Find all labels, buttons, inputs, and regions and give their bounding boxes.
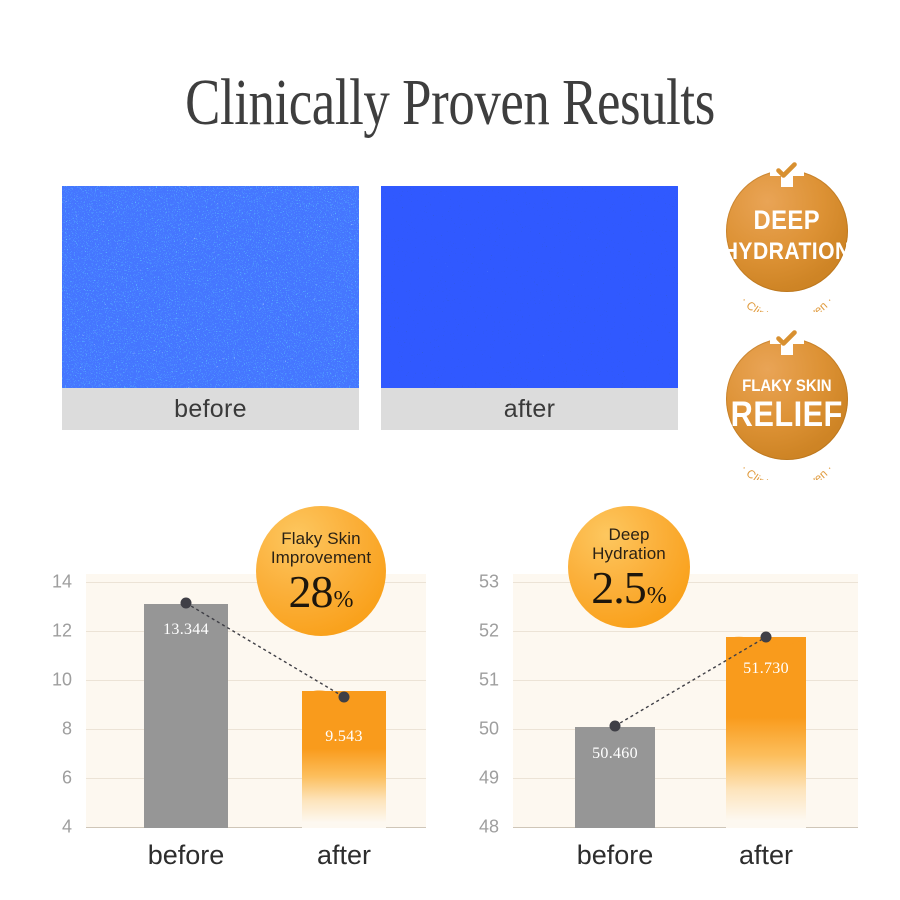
speckle-pattern-before xyxy=(62,186,359,388)
callout-title-line1: Flaky Skin xyxy=(281,529,360,548)
callout-title-line1: Deep xyxy=(608,525,649,544)
callout-unit: % xyxy=(334,589,354,612)
plot-area: 50.460 51.730 xyxy=(513,574,858,828)
bar-before: 13.344 xyxy=(144,604,228,828)
bar-value-after: 9.543 xyxy=(302,728,386,746)
y-tick-label: 53 xyxy=(458,572,499,593)
bar-value-before: 13.344 xyxy=(144,621,228,639)
badge-disc: FLAKY SKIN RELIEF xyxy=(726,338,848,460)
badge-ribbon-curve: · Clinically Proven · xyxy=(722,446,852,480)
plot-area: 13.344 9.543 xyxy=(86,574,426,828)
micrograph-image-before xyxy=(62,186,359,388)
callout-value: 2.5 xyxy=(591,566,646,610)
bar-after: 9.543 xyxy=(302,691,386,828)
speckle-pattern-after xyxy=(381,186,678,388)
y-tick-label: 51 xyxy=(458,670,499,691)
gridline xyxy=(513,680,858,681)
badge-line1: FLAKY SKIN xyxy=(742,377,831,394)
svg-text:· Clinically Proven ·: · Clinically Proven · xyxy=(738,295,836,312)
y-tick-label: 14 xyxy=(28,572,72,593)
svg-text:· Clinically Proven ·: · Clinically Proven · xyxy=(738,463,836,480)
badge-disc: DEEP HYDRATION xyxy=(726,170,848,292)
micrograph-panel-before: before xyxy=(62,186,359,430)
gridline xyxy=(86,631,426,632)
callout-deep-hydration: Deep Hydration 2.5 % xyxy=(568,506,690,628)
infographic-page: Clinically Proven Results xyxy=(0,0,900,900)
cross-check-icon xyxy=(768,320,806,358)
y-tick-label: 50 xyxy=(458,719,499,740)
callout-title-line2: Improvement xyxy=(271,548,371,567)
callout-value: 28 xyxy=(289,570,333,614)
badge-line2: RELIEF xyxy=(731,397,843,432)
badge-flaky-skin-relief: FLAKY SKIN RELIEF · Clinically Proven · xyxy=(722,338,852,460)
callout-title-line2: Hydration xyxy=(592,544,666,563)
trend-connector xyxy=(513,574,858,828)
gridline xyxy=(513,778,858,779)
bar-value-after: 51.730 xyxy=(726,660,806,678)
x-tick-label-after: after xyxy=(739,840,793,871)
data-point-after xyxy=(339,692,350,703)
cross-check-icon xyxy=(768,152,806,190)
y-tick-label: 10 xyxy=(28,670,72,691)
bar-after: 51.730 xyxy=(726,637,806,828)
x-axis-line xyxy=(513,827,858,828)
micrograph-caption-before: before xyxy=(62,388,359,430)
y-tick-label: 4 xyxy=(28,817,72,838)
y-tick-label: 52 xyxy=(458,621,499,642)
badge-line1: DEEP xyxy=(754,207,820,234)
y-tick-label: 48 xyxy=(458,817,499,838)
x-tick-label-before: before xyxy=(148,840,225,871)
x-tick-label-before: before xyxy=(577,840,654,871)
data-point-after xyxy=(761,632,772,643)
badge-line2: HYDRATION xyxy=(723,240,851,264)
badge-ribbon: · Clinically Proven · xyxy=(722,278,852,312)
badge-ribbon-text: · Clinically Proven · xyxy=(738,463,836,480)
callout-unit: % xyxy=(647,585,667,608)
y-tick-label: 49 xyxy=(458,768,499,789)
gridline xyxy=(513,729,858,730)
micrograph-caption-after: after xyxy=(381,388,678,430)
badge-deep-hydration: DEEP HYDRATION · Clinically Proven · xyxy=(722,170,852,292)
gridline xyxy=(86,680,426,681)
badge-ribbon-text: · Clinically Proven · xyxy=(738,295,836,312)
gridline xyxy=(513,631,858,632)
data-point-before xyxy=(610,721,621,732)
callout-flaky-skin-improvement: Flaky Skin Improvement 28 % xyxy=(256,506,386,636)
callout-value-group: 28 % xyxy=(289,570,354,614)
bar-before: 50.460 xyxy=(575,727,655,828)
callout-value-group: 2.5 % xyxy=(591,566,667,610)
micrograph-panel-after: after xyxy=(381,186,678,430)
micrograph-image-after xyxy=(381,186,678,388)
y-tick-label: 6 xyxy=(28,768,72,789)
chart-flaky-skin: 14 12 10 8 6 4 13.344 9.543 xyxy=(28,552,448,882)
page-title: Clinically Proven Results xyxy=(90,66,810,140)
badge-ribbon-curve: · Clinically Proven · xyxy=(722,278,852,312)
x-tick-label-after: after xyxy=(317,840,371,871)
bar-value-before: 50.460 xyxy=(575,745,655,763)
y-tick-label: 12 xyxy=(28,621,72,642)
data-point-before xyxy=(181,598,192,609)
badge-ribbon: · Clinically Proven · xyxy=(722,446,852,480)
y-tick-label: 8 xyxy=(28,719,72,740)
